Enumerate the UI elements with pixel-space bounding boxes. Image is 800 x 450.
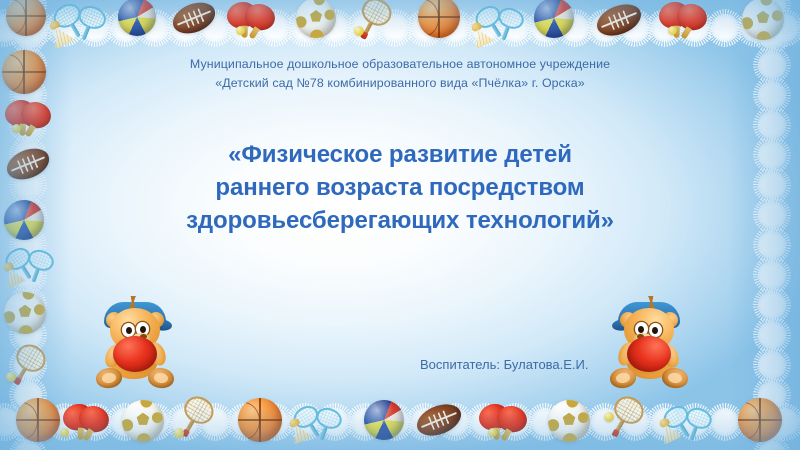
author-credit: Воспитатель: Булатова.Е.И. — [420, 356, 589, 374]
lace-dot — [772, 409, 798, 435]
ping-pong-ball-icon — [668, 26, 677, 35]
lace-dot — [22, 409, 48, 435]
lace-dot — [652, 409, 678, 435]
shuttlecock-icon — [654, 415, 682, 445]
author-credit-line: Воспитатель: Булатова.Е.И. — [420, 356, 589, 374]
mascot-ear-left — [106, 312, 122, 328]
lace-dot — [22, 15, 48, 41]
tennis-ball-icon — [604, 412, 614, 422]
american-football-icon — [592, 0, 645, 42]
basketball-icon — [6, 0, 46, 36]
mascot-cap-brim — [612, 317, 643, 331]
badminton-racket-icon — [289, 402, 328, 443]
soccer-ball-icon — [122, 400, 164, 442]
mascot-arm-right — [615, 340, 637, 368]
lace-dot — [232, 15, 258, 41]
mascot-eye-right — [635, 322, 648, 336]
institution-header-line-1: Муниципальное дошкольное образовательное… — [0, 55, 800, 74]
lace-dot — [759, 382, 785, 408]
badminton-racket-icon — [309, 405, 344, 444]
lace-dot — [759, 442, 785, 450]
mascot-ear-left — [662, 312, 678, 328]
lace-dot — [15, 412, 41, 438]
ping-pong-ball-icon — [236, 26, 245, 35]
lace-dot — [15, 352, 41, 378]
ping-pong-paddle-icon — [74, 403, 111, 443]
mascot-arm-left — [659, 342, 682, 370]
lace-dot — [772, 15, 798, 41]
mascot-foot-right — [147, 366, 176, 389]
shuttlecock-icon — [0, 259, 26, 289]
lace-dot — [652, 15, 678, 41]
lace-dot — [382, 409, 408, 435]
page-title-line-3: здоровьесберегающих технологий» — [0, 204, 800, 237]
lace-dot — [759, 412, 785, 438]
lace-dot — [112, 15, 138, 41]
page-title-line-2: раннего возраста посредством — [0, 171, 800, 204]
lace-dot — [52, 15, 78, 41]
mascot-hair — [636, 296, 666, 308]
lace-dot — [712, 409, 738, 435]
lace-dot — [292, 409, 318, 435]
lace-dot — [682, 15, 708, 41]
lace-dot — [15, 442, 41, 450]
lace-dot — [82, 409, 108, 435]
mascot-cap-icon — [618, 302, 680, 328]
mascot-nose — [140, 334, 147, 339]
lace-dot — [742, 15, 768, 41]
mascot-bear-left — [96, 300, 174, 388]
lace-dot — [0, 15, 18, 41]
lace-dot — [442, 409, 468, 435]
lace-dot — [112, 409, 138, 435]
soccer-ball-icon — [4, 292, 46, 334]
lace-dot — [682, 409, 708, 435]
basketball-icon — [16, 398, 60, 442]
lace-dot — [0, 409, 18, 435]
lace-dot — [759, 352, 785, 378]
lace-dot — [712, 15, 738, 41]
lace-dot — [352, 15, 378, 41]
lace-dot — [562, 409, 588, 435]
lace-dot — [622, 15, 648, 41]
lace-dot — [172, 409, 198, 435]
lace-dot — [759, 322, 785, 348]
lace-dot — [472, 409, 498, 435]
page-title: «Физическое развитие детей раннего возра… — [0, 138, 800, 237]
lace-dot — [142, 409, 168, 435]
soccer-ball-icon — [296, 0, 336, 38]
lace-dot — [562, 15, 588, 41]
lace-dot — [759, 0, 785, 18]
mascot-hair — [118, 296, 148, 308]
badminton-racket-icon — [49, 0, 90, 43]
lace-dot — [262, 15, 288, 41]
lace-dot — [382, 15, 408, 41]
tennis-racket-icon — [4, 339, 51, 390]
institution-header-line-2: «Детский сад №78 комбинированного вида «… — [0, 74, 800, 93]
basketball-icon — [418, 0, 460, 38]
lace-dot — [322, 409, 348, 435]
ping-pong-paddle-icon — [656, 0, 694, 39]
lace-dot — [322, 15, 348, 41]
mascot-foot-left — [661, 366, 690, 389]
lace-dot — [502, 409, 528, 435]
tennis-ball-icon — [6, 372, 16, 382]
ping-pong-paddle-icon — [224, 0, 262, 39]
badminton-racket-icon — [679, 405, 714, 444]
mascot-head — [624, 308, 674, 352]
lace-dot — [622, 409, 648, 435]
ping-pong-paddle-icon — [492, 403, 529, 443]
mascot-eye-right — [136, 322, 149, 336]
lace-dot — [532, 409, 558, 435]
lace-dot — [442, 15, 468, 41]
institution-header: Муниципальное дошкольное образовательное… — [0, 55, 800, 93]
mascot-arm-right — [146, 340, 168, 368]
lace-dot — [15, 262, 41, 288]
lace-dot — [15, 322, 41, 348]
lace-dot — [15, 382, 41, 408]
ping-pong-paddle-icon — [476, 401, 514, 442]
badminton-racket-icon — [71, 2, 110, 44]
mascot-ear-right — [148, 312, 164, 328]
mascot-cap-icon — [104, 302, 166, 328]
lace-dot — [472, 15, 498, 41]
basketball-icon — [738, 398, 782, 442]
mascot-body — [110, 337, 158, 379]
lace-dot — [15, 292, 41, 318]
tennis-racket-icon — [350, 0, 396, 45]
badminton-racket-icon — [1, 244, 40, 285]
mascot-nose — [637, 334, 644, 339]
mascot-eye-left — [649, 323, 662, 337]
tennis-ball-icon — [354, 26, 364, 36]
shuttlecock-icon — [43, 16, 75, 49]
mascot-head — [110, 308, 160, 352]
lace-dot — [15, 22, 41, 48]
volleyball-icon — [364, 400, 404, 440]
mascot-snout — [132, 333, 150, 345]
lace-dot — [759, 22, 785, 48]
mascot-cap-brim — [142, 317, 173, 331]
lace-dot — [15, 0, 41, 18]
lace-dot — [502, 15, 528, 41]
tennis-ball-icon — [174, 428, 184, 438]
mascot-eye-left — [122, 323, 135, 337]
tennis-racket-icon — [172, 391, 219, 442]
badminton-racket-icon — [491, 5, 526, 44]
lace-dot — [592, 409, 618, 435]
lace-dot — [412, 15, 438, 41]
tennis-racket-icon — [602, 391, 649, 442]
badminton-racket-icon — [21, 247, 56, 286]
lace-dot — [412, 409, 438, 435]
mascot-bear-right — [610, 300, 688, 388]
mascot-red-ball-icon — [627, 336, 671, 372]
mascot-red-ball-icon — [113, 336, 157, 372]
presentation-slide: Муниципальное дошкольное образовательное… — [0, 0, 800, 450]
ping-pong-paddle-icon — [16, 99, 53, 139]
mascot-foot-right — [609, 366, 638, 389]
page-title-line-1: «Физическое развитие детей — [0, 138, 800, 171]
lace-dot — [142, 15, 168, 41]
lace-dot — [759, 112, 785, 138]
badminton-racket-icon — [659, 402, 698, 443]
mascot-ear-right — [620, 312, 636, 328]
mascot-arm-left — [102, 342, 125, 370]
basketball-icon — [238, 398, 282, 442]
lace-dot — [82, 15, 108, 41]
lace-dot — [172, 15, 198, 41]
lace-dot — [292, 15, 318, 41]
mascot-body — [626, 337, 674, 379]
shuttlecock-icon — [284, 415, 312, 445]
lace-dot — [759, 262, 785, 288]
lace-dot — [202, 15, 228, 41]
volleyball-icon — [118, 0, 156, 36]
lace-dot — [759, 292, 785, 318]
lace-dot — [52, 409, 78, 435]
lace-dot — [532, 15, 558, 41]
lace-band-top — [0, 12, 800, 46]
lace-dot — [352, 409, 378, 435]
soccer-ball-icon — [548, 400, 590, 442]
ping-pong-paddle-icon — [672, 1, 709, 41]
ping-pong-ball-icon — [12, 124, 21, 133]
ping-pong-ball-icon — [488, 428, 497, 437]
ping-pong-paddle-icon — [60, 401, 98, 442]
lace-band-bottom — [0, 406, 800, 440]
ping-pong-ball-icon — [60, 428, 69, 437]
lace-dot — [262, 409, 288, 435]
lace-dot — [592, 15, 618, 41]
lace-dot — [202, 409, 228, 435]
volleyball-icon — [534, 0, 574, 38]
lace-dot — [15, 112, 41, 138]
lace-dot — [232, 409, 258, 435]
badminton-racket-icon — [471, 2, 510, 43]
ping-pong-paddle-icon — [240, 1, 277, 41]
lace-dot — [742, 409, 768, 435]
mascot-foot-left — [95, 366, 124, 389]
american-football-icon — [168, 0, 219, 39]
mascot-snout — [634, 333, 652, 345]
ping-pong-paddle-icon — [2, 97, 40, 138]
shuttlecock-icon — [466, 19, 494, 49]
soccer-ball-icon — [742, 0, 784, 40]
american-football-icon — [412, 398, 465, 441]
